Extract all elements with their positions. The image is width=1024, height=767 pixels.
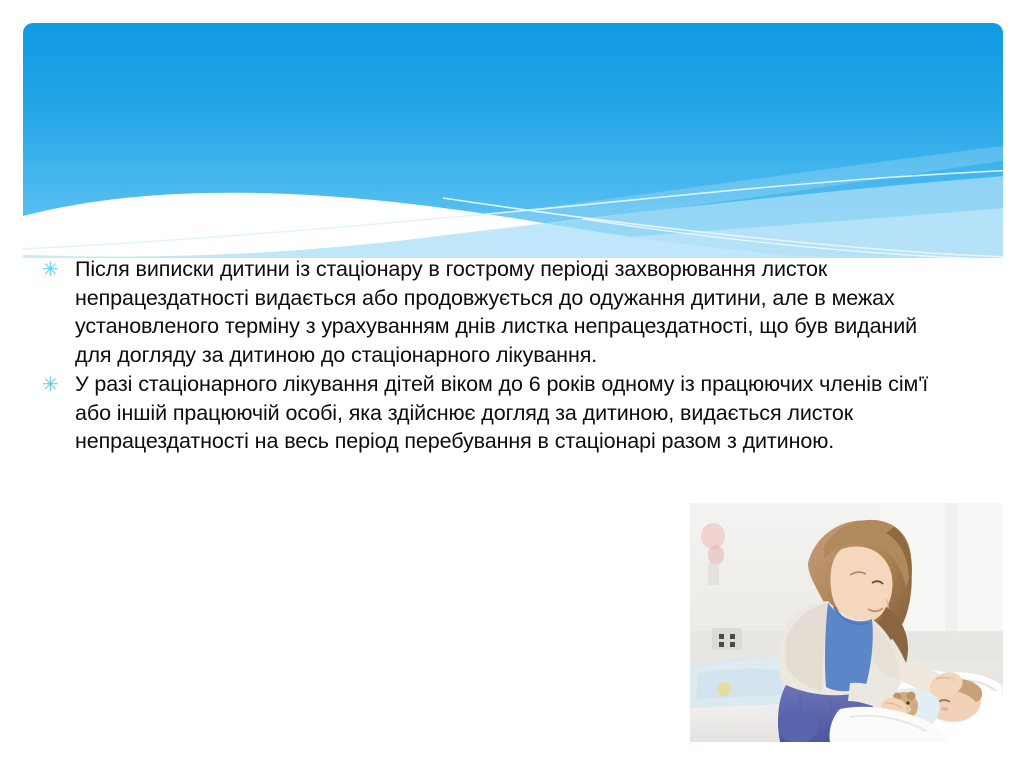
- bullet-item-2: ✳ У разі стаціонарного лікування дітей в…: [38, 370, 938, 456]
- slide-body: ✳ Після виписки дитини із стаціонару в г…: [38, 255, 938, 457]
- asterisk-bullet-icon: ✳: [42, 256, 64, 284]
- mother-caring-for-sick-child-photo: [690, 503, 1003, 742]
- bullet-text-1: Після виписки дитини із стаціонару в гос…: [75, 255, 938, 369]
- bullet-item-1: ✳ Після виписки дитини із стаціонару в г…: [38, 255, 938, 369]
- presentation-slide: ✳ Після виписки дитини із стаціонару в г…: [0, 0, 1024, 767]
- asterisk-bullet-icon: ✳: [42, 371, 64, 399]
- bullet-list: ✳ Після виписки дитини із стаціонару в г…: [38, 255, 938, 456]
- decorative-wave-banner: [23, 23, 1003, 258]
- bullet-text-2: У разі стаціонарного лікування дітей вік…: [75, 370, 938, 456]
